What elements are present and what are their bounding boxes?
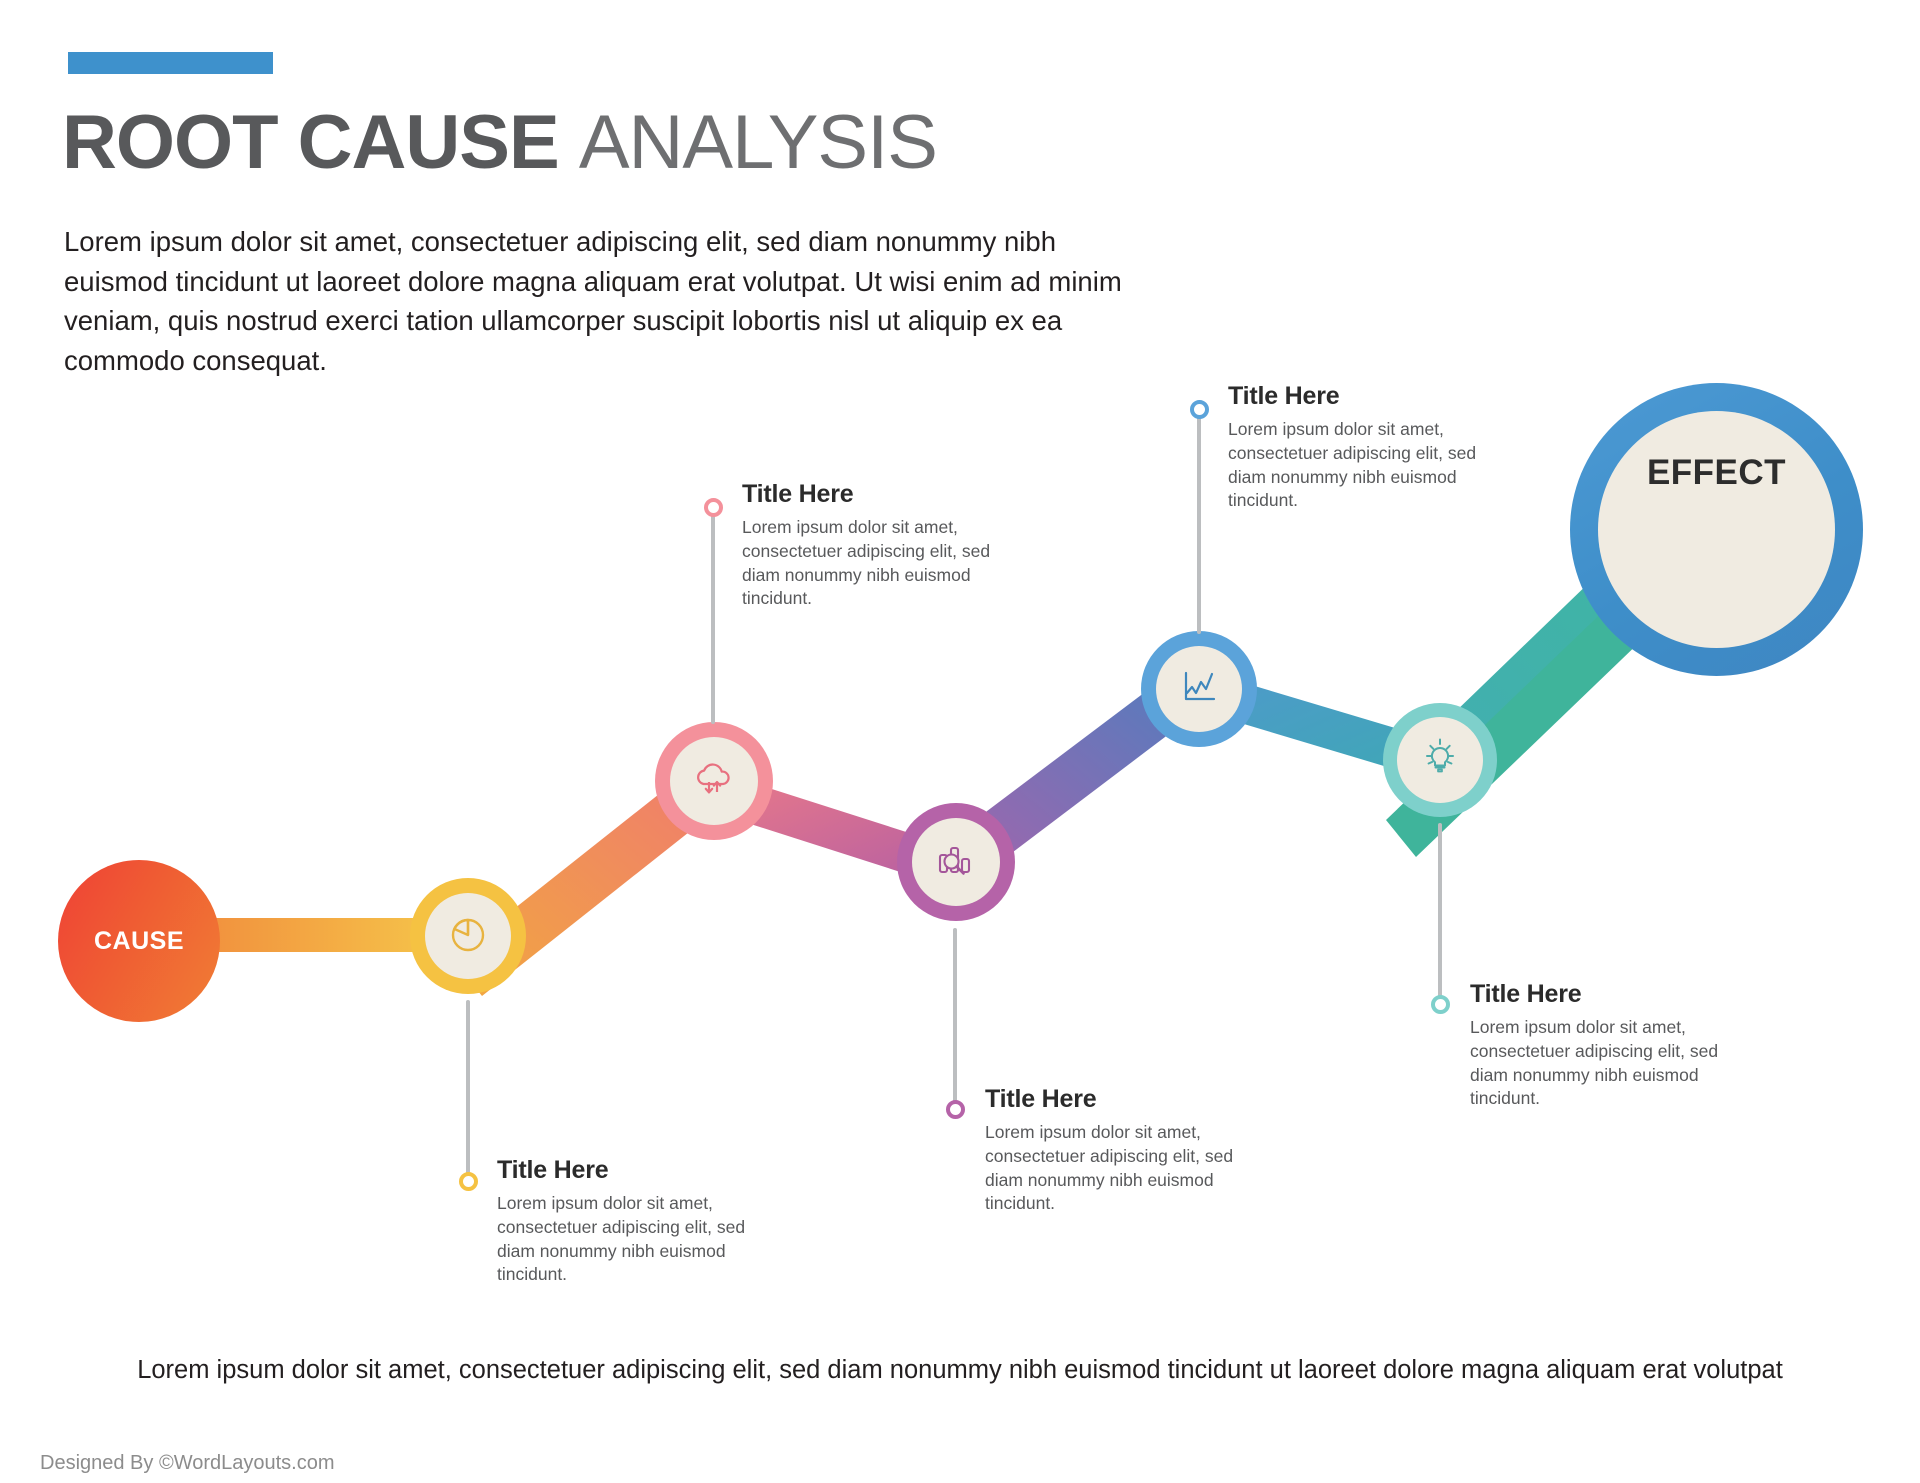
callout-title: Title Here — [1470, 982, 1720, 1007]
node-inner — [1397, 717, 1483, 803]
bar-chart-search-icon — [931, 835, 981, 890]
line-chart-icon — [1175, 663, 1223, 716]
callout-3: Title Here Lorem ipsum dolor sit amet, c… — [985, 1087, 1235, 1216]
cause-label: CAUSE — [94, 927, 184, 956]
root-cause-diagram: Title Here Lorem ipsum dolor sit amet, c… — [0, 360, 1920, 1290]
callout-stem-3 — [953, 928, 957, 1108]
page-title-light: ANALYSIS — [579, 100, 937, 185]
node-inner — [425, 893, 511, 979]
callout-body: Lorem ipsum dolor sit amet, consectetuer… — [1470, 1016, 1720, 1111]
page-title: ROOT CAUSE ANALYSIS — [62, 105, 937, 181]
callout-stem-5 — [1438, 823, 1442, 1003]
callout-stem-4 — [1197, 410, 1201, 634]
callout-body: Lorem ipsum dolor sit amet, consectetuer… — [742, 516, 992, 611]
callout-body: Lorem ipsum dolor sit amet, consectetuer… — [1228, 418, 1478, 513]
effect-circle[interactable]: EFFECT — [1570, 383, 1863, 676]
callout-4: Title Here Lorem ipsum dolor sit amet, c… — [1228, 384, 1478, 513]
callout-marker-3 — [946, 1100, 965, 1119]
diagram-node-bar-chart-search[interactable] — [897, 803, 1015, 921]
callout-title: Title Here — [985, 1087, 1235, 1112]
callout-stem-1 — [466, 1000, 470, 1180]
callout-title: Title Here — [742, 482, 992, 507]
callout-marker-2 — [704, 498, 723, 517]
diagram-node-cloud-sync[interactable] — [655, 722, 773, 840]
page-title-bold: ROOT CAUSE — [62, 100, 559, 185]
designer-credit: Designed By ©WordLayouts.com — [40, 1452, 335, 1475]
lightbulb-icon — [1416, 734, 1464, 787]
footer-caption: Lorem ipsum dolor sit amet, consectetuer… — [0, 1356, 1920, 1385]
callout-2: Title Here Lorem ipsum dolor sit amet, c… — [742, 482, 992, 611]
node-inner — [670, 737, 758, 825]
callout-5: Title Here Lorem ipsum dolor sit amet, c… — [1470, 982, 1720, 1111]
diagram-node-line-chart[interactable] — [1141, 631, 1257, 747]
node-inner — [912, 818, 1000, 906]
callout-body: Lorem ipsum dolor sit amet, consectetuer… — [497, 1192, 747, 1287]
node-inner — [1156, 646, 1242, 732]
callout-marker-1 — [459, 1172, 478, 1191]
effect-inner: EFFECT — [1598, 411, 1835, 648]
accent-bar — [68, 52, 273, 74]
cause-circle[interactable]: CAUSE — [58, 860, 220, 1022]
callout-title: Title Here — [497, 1158, 747, 1183]
callout-1: Title Here Lorem ipsum dolor sit amet, c… — [497, 1158, 747, 1287]
diagram-node-pie-chart[interactable] — [410, 878, 526, 994]
intro-paragraph: Lorem ipsum dolor sit amet, consectetuer… — [64, 222, 1154, 380]
effect-label: EFFECT — [1647, 453, 1786, 493]
cloud-sync-icon — [689, 754, 739, 809]
callout-stem-2 — [711, 508, 715, 724]
callout-title: Title Here — [1228, 384, 1478, 409]
diagram-node-lightbulb[interactable] — [1383, 703, 1497, 817]
pie-chart-icon — [444, 910, 492, 963]
callout-body: Lorem ipsum dolor sit amet, consectetuer… — [985, 1121, 1235, 1216]
callout-marker-4 — [1190, 400, 1209, 419]
callout-marker-5 — [1431, 995, 1450, 1014]
